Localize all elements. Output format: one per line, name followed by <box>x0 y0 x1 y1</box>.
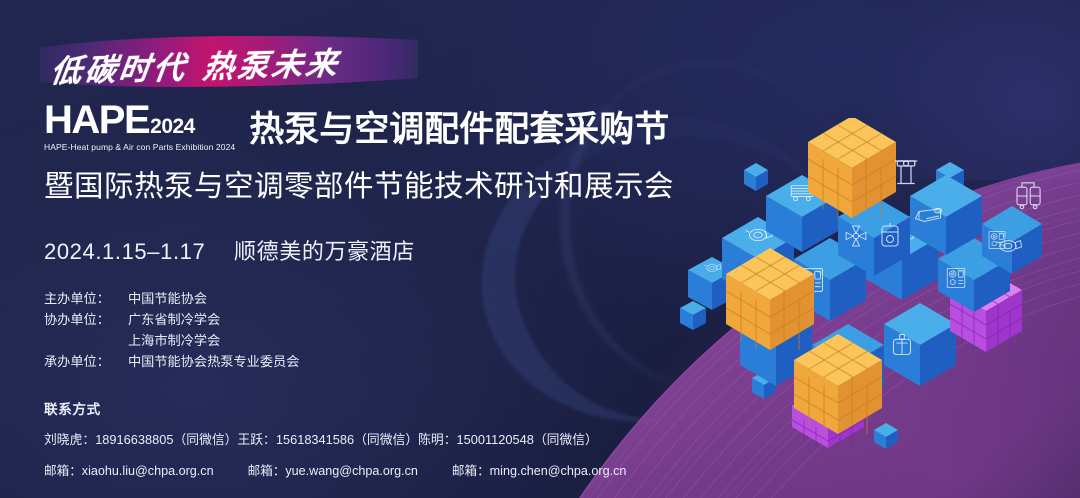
calligraphy-right: 热泵未来 <box>201 37 343 86</box>
floating-gas-cylinder-icon <box>882 223 898 246</box>
organizer-row: 承办单位： 中国节能协会热泵专业委员会 <box>44 351 724 372</box>
cube-purple-bottom <box>792 385 864 448</box>
promotional-banner: 低碳时代 热泵未来 <box>0 0 1080 498</box>
organizer-label: 协办单位： <box>44 309 128 330</box>
organizer-label: 主办单位： <box>44 288 128 309</box>
brand-lockup: HAPE 2024 <box>44 100 235 140</box>
cube-mid-far-right <box>938 238 1010 312</box>
brand-subtitle-en: HAPE-Heat pump & Air con Parts Exhibitio… <box>44 143 235 152</box>
cube-mid-right <box>866 217 938 300</box>
event-venue: 顺德美的万豪酒店 <box>234 239 415 264</box>
date-venue-line: 2024.1.15–1.17 顺德美的万豪酒店 <box>44 234 724 266</box>
contact-email-3[interactable]: 邮箱：ming.chen@chpa.org.cn <box>452 460 626 479</box>
contact-heading: 联系方式 <box>44 398 660 418</box>
satellite-cube-tiny-lower-left <box>752 371 776 399</box>
contact-email-2[interactable]: 邮箱：yue.wang@chpa.org.cn <box>248 460 418 479</box>
floating-accumulator-tank-icon <box>1017 183 1040 209</box>
satellite-cube-tiny-right <box>936 162 964 194</box>
cube-bottom-center-blue <box>812 324 884 407</box>
satellite-cube-tiny-bottom <box>874 423 898 448</box>
contact-email-line: 邮箱：xiaohu.liu@chpa.org.cn 邮箱：yue.wang@ch… <box>44 460 660 479</box>
cube-top-far-right-accum <box>982 206 1042 274</box>
headline-text-block: HAPE 2024 HAPE-Heat pump & Air con Parts… <box>44 100 724 372</box>
cube-orange-top <box>808 118 896 218</box>
brand-year: 2024 <box>150 116 195 137</box>
satellite-cube-tiny-upper <box>744 163 768 191</box>
title-row: HAPE 2024 HAPE-Heat pump & Air con Parts… <box>44 100 724 152</box>
event-title-secondary: 暨国际热泵与空调零部件节能技术研讨和展示会 <box>44 163 724 205</box>
cube-purple-right <box>950 269 1022 352</box>
contact-block: 联系方式 刘晓虎：18916638805（同微信）王跃：15618341586（… <box>44 398 660 479</box>
floating-valve-assembly-icon <box>895 161 918 184</box>
event-date: 2024.1.15–1.17 <box>44 239 205 264</box>
contact-email-1[interactable]: 邮箱：xiaohu.liu@chpa.org.cn <box>44 460 214 479</box>
calligraphy-headline: 低碳时代 热泵未来 <box>47 29 416 97</box>
contact-phone-line: 刘晓虎：18916638805（同微信）王跃：15618341586（同微信）陈… <box>44 429 660 448</box>
organizer-value: 广东省制冷学会 <box>128 309 220 330</box>
organizer-value: 中国节能协会热泵专业委员会 <box>128 351 299 372</box>
organizer-value: 中国节能协会 <box>128 288 207 309</box>
background-glow-top-right <box>860 0 1080 180</box>
cube-top-center <box>838 196 910 276</box>
cube-mid-left <box>722 217 794 300</box>
cube-top-right <box>910 175 982 255</box>
organizer-label: 承办单位： <box>44 351 128 372</box>
organizer-row: 主办单位： 中国节能协会 <box>44 288 724 309</box>
organizer-row: 上海市制冷学会 <box>44 330 724 351</box>
brand-column: HAPE 2024 HAPE-Heat pump & Air con Parts… <box>44 100 241 152</box>
organizer-value: 上海市制冷学会 <box>128 330 220 351</box>
cube-bottom-right-blue <box>884 303 956 386</box>
organizers-block: 主办单位： 中国节能协会 协办单位： 广东省制冷学会 上海市制冷学会 承办单位：… <box>44 288 724 372</box>
event-title-primary: 热泵与空调配件配套采购节 <box>249 112 669 147</box>
cube-orange-left <box>726 248 814 350</box>
cube-bottom-left <box>740 303 812 386</box>
organizer-row: 协办单位： 广东省制冷学会 <box>44 309 724 330</box>
cube-orange-center-bottom <box>794 334 882 434</box>
brand-name: HAPE <box>44 100 149 140</box>
cube-mid-center <box>794 238 866 321</box>
calligraphy-left: 低碳时代 <box>48 42 190 91</box>
cube-top-left <box>766 175 838 252</box>
floating-pump-icon <box>996 241 1021 252</box>
